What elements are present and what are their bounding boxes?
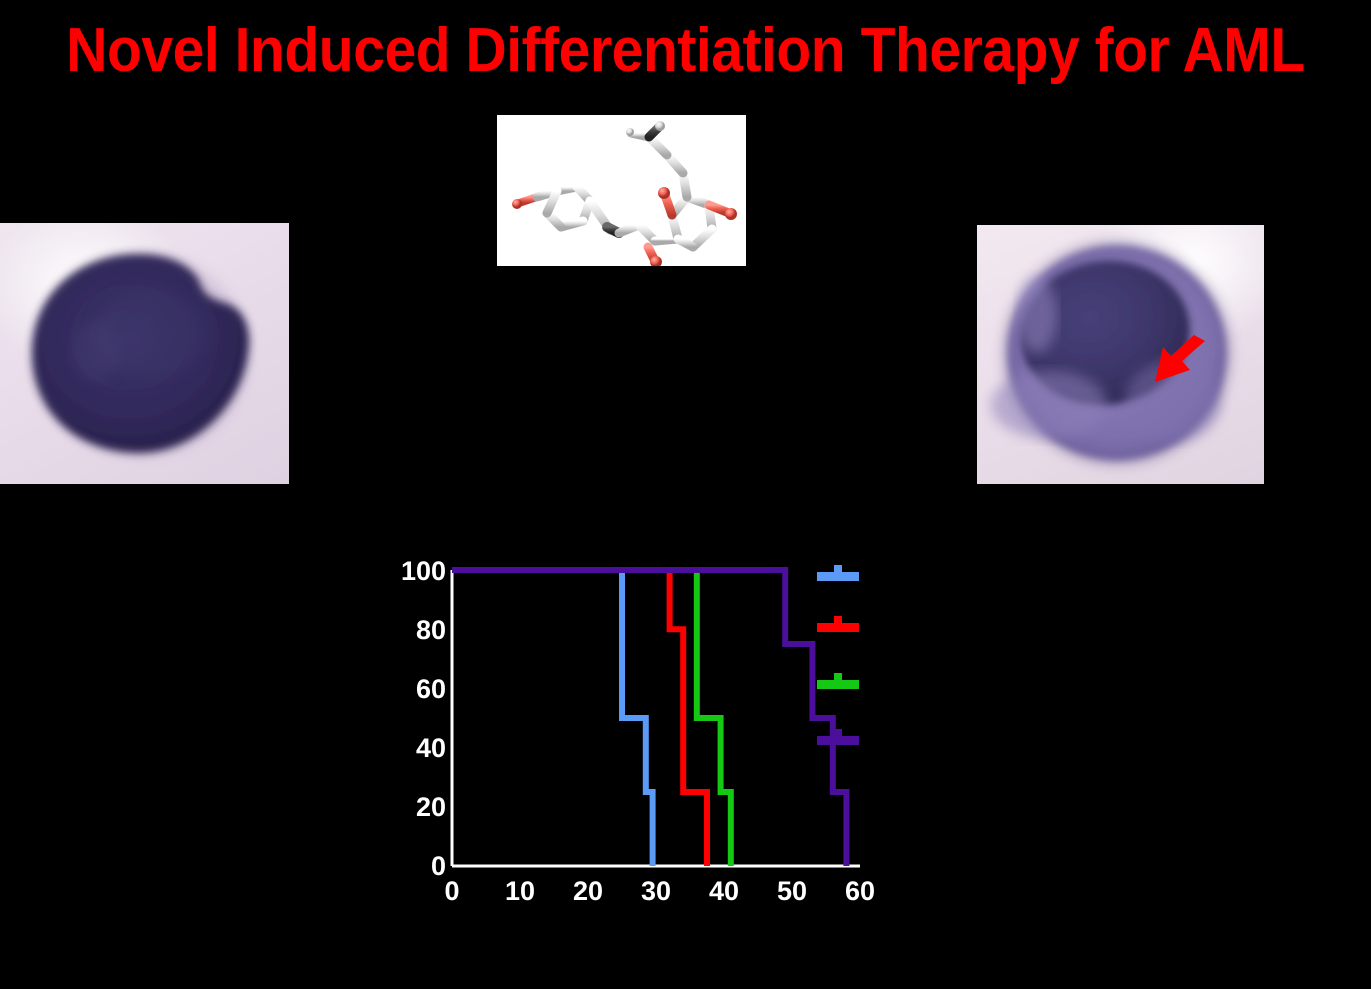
legend-censor-mark-0 (834, 565, 842, 574)
legend-censor-mark-3 (834, 729, 842, 738)
x-tick-40: 40 (709, 876, 739, 906)
molecule-structure-panel (497, 115, 746, 266)
survival-curve-series-3-green (452, 570, 731, 866)
micrograph-undifferentiated-blast (0, 223, 289, 484)
survival-curves (452, 570, 846, 866)
x-tick-60: 60 (845, 876, 875, 906)
kaplan-meier-chart: 100 80 60 40 20 0 0 10 20 30 40 50 60 (390, 548, 910, 918)
cytoplasm-granules-upper (1017, 277, 1057, 353)
molecule-3d-render (497, 115, 746, 266)
y-tick-80: 80 (416, 615, 446, 645)
x-tick-20: 20 (573, 876, 603, 906)
y-tick-60: 60 (416, 674, 446, 704)
x-axis-tick-labels: 0 10 20 30 40 50 60 (444, 876, 875, 906)
x-tick-30: 30 (641, 876, 671, 906)
blast-cell-image (0, 223, 289, 484)
survival-curve-series-2-red (452, 570, 707, 866)
page-title: Novel Induced Differentiation Therapy fo… (55, 18, 1316, 83)
y-axis-tick-labels: 100 80 60 40 20 0 (401, 556, 446, 881)
y-tick-100: 100 (401, 556, 446, 586)
y-tick-20: 20 (416, 792, 446, 822)
differentiated-cell-image (977, 225, 1264, 484)
cytoplasm-granules-left (991, 371, 1107, 439)
x-tick-50: 50 (777, 876, 807, 906)
legend-censor-mark-2 (834, 673, 842, 682)
x-tick-0: 0 (444, 876, 459, 906)
micrograph-differentiated-cell (977, 225, 1264, 484)
x-tick-10: 10 (505, 876, 535, 906)
survival-plot: 100 80 60 40 20 0 0 10 20 30 40 50 60 (390, 548, 910, 918)
y-tick-40: 40 (416, 733, 446, 763)
chart-axes (452, 570, 860, 866)
legend-censor-mark-1 (834, 616, 842, 625)
survival-curve-series-1-light-blue (452, 570, 653, 866)
chromatin-patch (92, 287, 208, 379)
survival-curve-series-4-purple (452, 570, 846, 866)
